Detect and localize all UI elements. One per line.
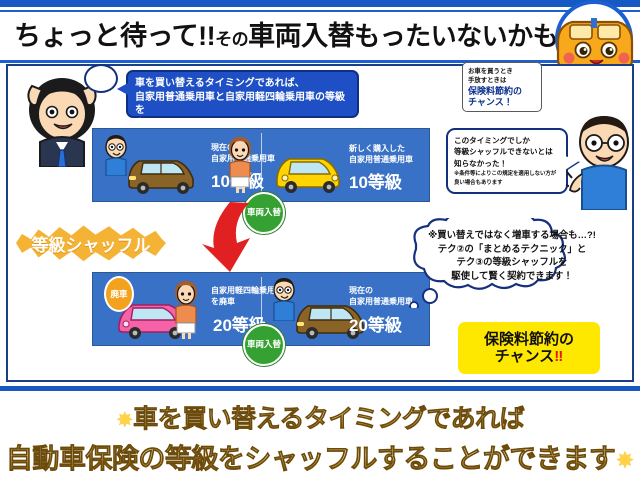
thought-line-4: 駆使して賢く契約できます！	[398, 269, 626, 283]
scrap-vehicle-badge-label: 廃車	[110, 290, 127, 299]
chance-line-2: チャンス‼	[495, 348, 564, 365]
title-part-1: ちょっと待って!!	[14, 21, 215, 51]
after-left-caption-2: を廃車	[211, 296, 235, 307]
woman-character-icon	[171, 279, 201, 339]
footer-line-2: 自動車保険の等級をシャッフルすることができます	[6, 444, 616, 474]
infographic-canvas: ちょっと待って!!その車両入替もったいないかも?	[0, 0, 640, 480]
footer-rule-divider	[0, 386, 640, 391]
yellow-car-icon	[269, 147, 349, 195]
sparkle-star-icon: ✸	[615, 447, 634, 473]
thought-dot-bubble	[84, 64, 118, 93]
customer-speech-bubble: このタイミングでしか 等級シャッフルできないとは 知らなかった！ ※条件等により…	[446, 128, 568, 194]
bubble-note-1: ※条件等によりこの規定を適用しない方が	[454, 171, 560, 178]
savings-note-card: お車を買うとき 手放すときは 保険料節約の チャンス！	[462, 62, 542, 112]
title-part-3: 車両入替	[248, 21, 354, 51]
panel-arrow-head	[429, 129, 430, 202]
thought-line-2: テク②の「まとめるテクニック」と	[398, 242, 626, 256]
bubble-tail	[117, 83, 128, 95]
bubble-line-1: このタイミングでしか	[454, 135, 560, 146]
vehicle-swap-badge-bottom-label: 車両入替	[247, 340, 281, 349]
chance-line-2-text: チャンス	[495, 348, 555, 365]
intro-line-1: 車を買い替えるタイミングであれば、	[135, 77, 350, 91]
grade-panel-before: 現在の 自家用普通乗用車 10等級 新しく購入した 自家用普通乗用車 10等級	[92, 128, 430, 202]
before-right-caption-2: 自家用普通乗用車	[349, 154, 413, 165]
after-right-caption-1: 現在の	[349, 285, 373, 296]
before-right-caption-1: 新しく購入した	[349, 143, 405, 154]
before-right-grade: 10等級	[349, 174, 402, 191]
sparkle-star-icon: ✸	[116, 408, 133, 432]
bubble-line-2: 等級シャッフルできないとは	[454, 146, 560, 157]
bubble-note-2: 良い場合もあります	[454, 180, 560, 187]
bubble-line-3: 知らなかった！	[454, 158, 560, 169]
vehicle-swap-badge-bottom: 車両入替	[243, 324, 285, 366]
thought-line-1: ※買い替えではなく増車する場合も…?!	[398, 228, 626, 242]
thought-bubble-text: ※買い替えではなく増車する場合も…?! テク②の「まとめるテクニック」と テク③…	[398, 228, 626, 290]
chance-exclamation: ‼	[554, 348, 563, 365]
note-line-2: 手放すときは	[468, 76, 536, 85]
intro-line-2: 自家用普通乗用車と自家用軽四輪乗用車の等級を	[135, 91, 350, 118]
intro-speech-bubble: 車を買い替えるタイミングであれば、 自家用普通乗用車と自家用軽四輪乗用車の等級を…	[126, 70, 359, 118]
scrap-vehicle-badge: 廃車	[104, 276, 134, 312]
note-line-4: チャンス！	[468, 97, 536, 108]
note-line-1: お車を買うとき	[468, 67, 536, 76]
page-title: ちょっと待って!!その車両入替もったいないかも?	[14, 23, 574, 50]
woman-character-icon	[225, 135, 255, 193]
footer-line-2-wrap: 自動車保険の等級をシャッフルすることができます✸	[6, 437, 634, 476]
thought-line-3: テク③の等級シャッフルを	[398, 255, 626, 269]
red-curved-arrow-icon	[200, 198, 278, 276]
footer-message: ✸車を買い替えるタイミングであれば 自動車保険の等級をシャッフルすることができま…	[0, 394, 640, 480]
after-right-grade: 20等級	[349, 317, 402, 334]
footer-line-1-wrap: ✸車を買い替えるタイミングであれば	[116, 399, 524, 435]
chance-line-1: 保険料節約の	[484, 331, 574, 348]
brown-sedan-icon	[121, 145, 201, 195]
note-line-3: 保険料節約の	[468, 86, 536, 97]
footer-line-1: 車を買い替えるタイミングであれば	[133, 405, 524, 433]
man-with-glasses-icon	[566, 108, 636, 210]
title-part-2: その	[215, 30, 248, 49]
savings-chance-box: 保険料節約の チャンス‼	[458, 322, 600, 374]
